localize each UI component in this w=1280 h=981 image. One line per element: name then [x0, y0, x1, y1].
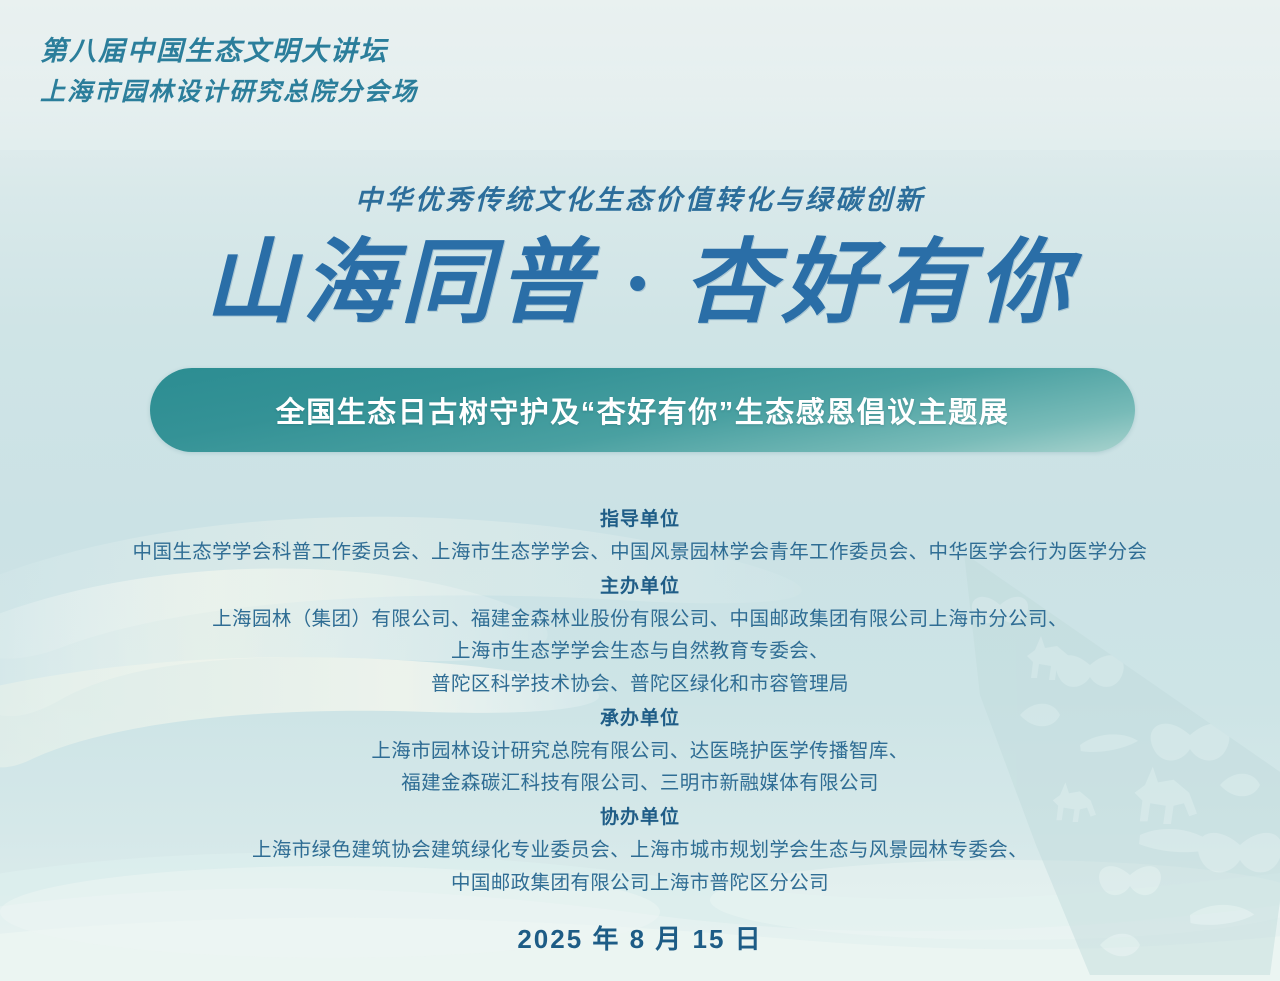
- org-heading: 指导单位: [0, 505, 1280, 536]
- poster-canvas: 第八届中国生态文明大讲坛 上海市园林设计研究总院分会场 中华优秀传统文化生态价值…: [0, 0, 1280, 981]
- org-heading: 主办单位: [0, 572, 1280, 603]
- org-line: 普陀区科学技术协会、普陀区绿化和市容管理局: [0, 668, 1280, 700]
- exhibition-banner: 全国生态日古树守护及“杏好有你”生态感恩倡议主题展: [150, 368, 1135, 452]
- org-line: 上海园林（集团）有限公司、福建金森林业股份有限公司、中国邮政集团有限公司上海市分…: [0, 603, 1280, 635]
- org-block-guidance: 指导单位 中国生态学学会科普工作委员会、上海市生态学学会、中国风景园林学会青年工…: [0, 505, 1280, 568]
- header-line-1: 第八届中国生态文明大讲坛: [40, 34, 418, 70]
- org-block-coorganizer: 协办单位 上海市绿色建筑协会建筑绿化专业委员会、上海市城市规划学会生态与风景园林…: [0, 803, 1280, 898]
- org-line: 上海市园林设计研究总院有限公司、达医晓护医学传播智库、: [0, 735, 1280, 767]
- org-heading: 协办单位: [0, 803, 1280, 834]
- org-block-host: 主办单位 上海园林（集团）有限公司、福建金森林业股份有限公司、中国邮政集团有限公…: [0, 572, 1280, 700]
- org-block-organizer: 承办单位 上海市园林设计研究总院有限公司、达医晓护医学传播智库、 福建金森碳汇科…: [0, 704, 1280, 799]
- org-line: 中国生态学学会科普工作委员会、上海市生态学学会、中国风景园林学会青年工作委员会、…: [0, 536, 1280, 568]
- header-line-2: 上海市园林设计研究总院分会场: [40, 76, 418, 109]
- event-series-header: 第八届中国生态文明大讲坛 上海市园林设计研究总院分会场: [40, 34, 418, 109]
- org-line: 上海市生态学学会生态与自然教育专委会、: [0, 635, 1280, 667]
- org-line: 福建金森碳汇科技有限公司、三明市新融媒体有限公司: [0, 767, 1280, 799]
- org-line: 上海市绿色建筑协会建筑绿化专业委员会、上海市城市规划学会生态与风景园林专委会、: [0, 834, 1280, 866]
- org-heading: 承办单位: [0, 704, 1280, 735]
- org-line: 中国邮政集团有限公司上海市普陀区分公司: [0, 867, 1280, 899]
- poster-subtitle: 中华优秀传统文化生态价值转化与绿碳创新: [0, 178, 1280, 217]
- event-date: 2025 年 8 月 15 日: [0, 919, 1280, 956]
- poster-main-title: 山海同普 · 杏好有你: [0, 234, 1280, 333]
- exhibition-banner-label: 全国生态日古树守护及“杏好有你”生态感恩倡议主题展: [276, 389, 1010, 431]
- organizations-section: 指导单位 中国生态学学会科普工作委员会、上海市生态学学会、中国风景园林学会青年工…: [0, 505, 1280, 956]
